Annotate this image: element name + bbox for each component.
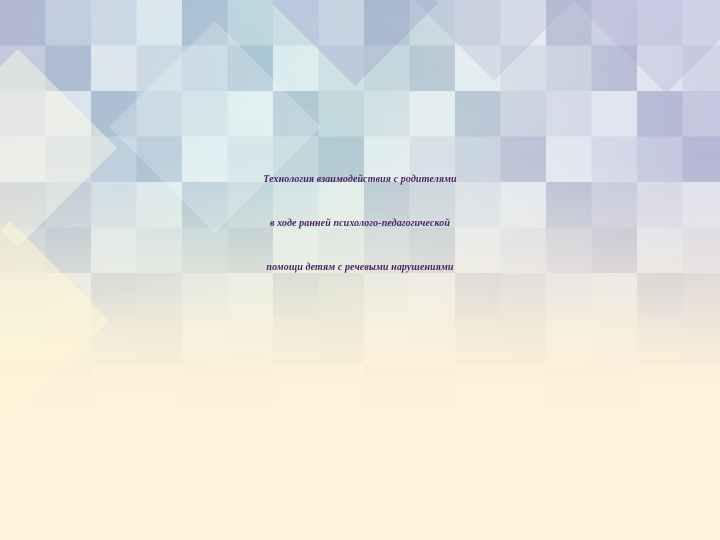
title-line-1: Технология взаимодействия с родителями bbox=[18, 158, 702, 202]
title-line-3: помощи детям с речевыми нарушениями bbox=[18, 246, 702, 290]
accent-diamond-shape bbox=[573, 0, 720, 93]
accent-diamond-shape bbox=[403, 0, 584, 81]
title-slide: Технология взаимодействия с родителями в… bbox=[0, 0, 720, 540]
accent-diamond-shape bbox=[272, 0, 439, 86]
title-line-2: в ходе ранней психолого-педагогической bbox=[18, 202, 702, 246]
slide-title: Технология взаимодействия с родителями в… bbox=[0, 158, 720, 290]
